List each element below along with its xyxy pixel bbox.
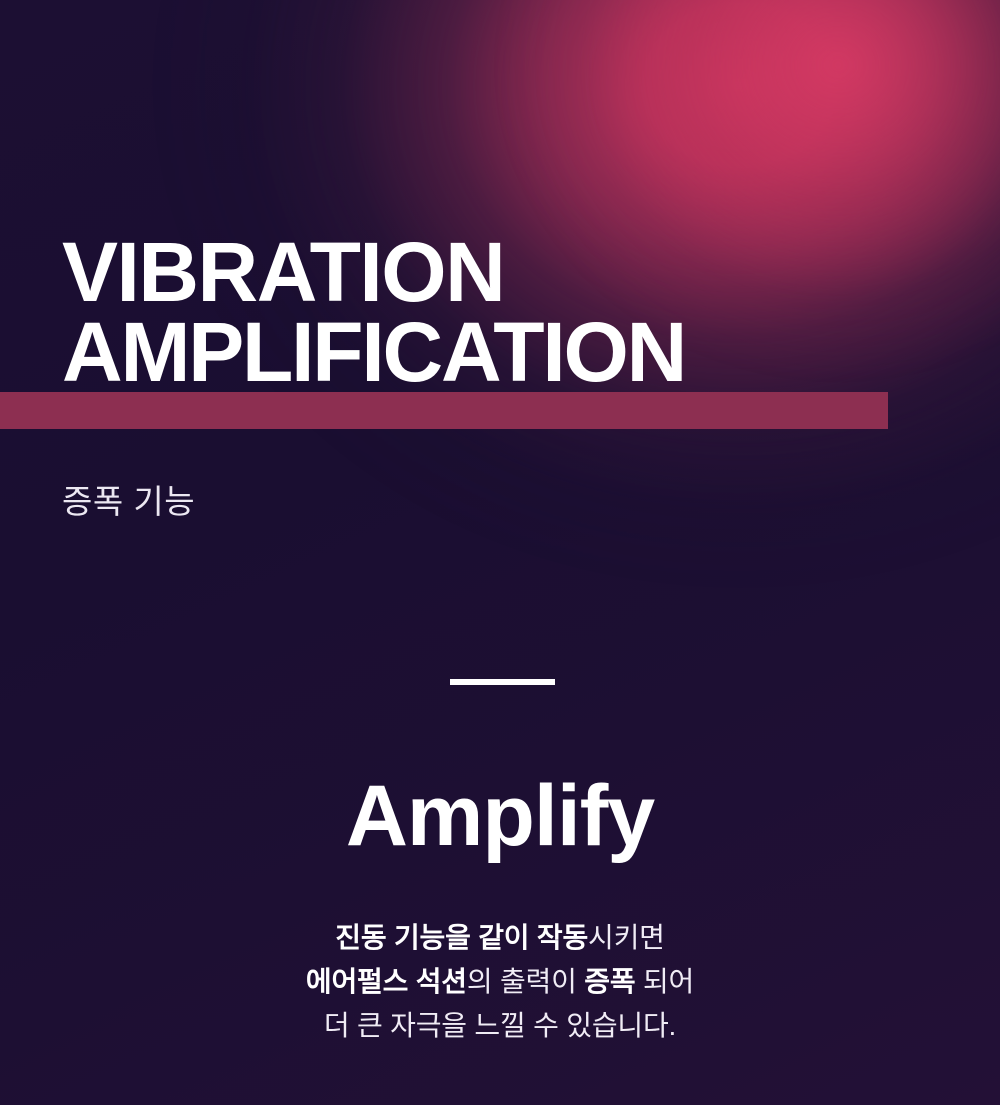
feature-description-line-3: 더 큰 자극을 느낄 수 있습니다. bbox=[0, 1004, 1000, 1048]
headline-subtitle: 증폭 기능 bbox=[62, 480, 195, 524]
banner-content: VIBRATION AMPLIFICATION 증폭 기능 Amplify 진동… bbox=[0, 0, 1000, 1105]
feature-title: Amplify bbox=[0, 766, 1000, 866]
feature-description-segment-2-1: 에어펄스 석션 bbox=[306, 966, 467, 997]
feature-description-segment-3-1: 더 큰 자극을 느낄 수 있습니다. bbox=[324, 1010, 676, 1041]
horizontal-rule-divider-icon bbox=[450, 679, 555, 685]
headline-line-1: VIBRATION bbox=[62, 232, 1000, 312]
feature-description-segment-1-1: 진동 기능을 같이 작동 bbox=[335, 922, 588, 953]
feature-description-line-1: 진동 기능을 같이 작동시키면 bbox=[0, 916, 1000, 960]
feature-description-line-2: 에어펄스 석션의 출력이 증폭 되어 bbox=[0, 960, 1000, 1004]
headline-block: VIBRATION AMPLIFICATION bbox=[0, 232, 1000, 392]
feature-description-segment-2-3: 증폭 bbox=[584, 966, 635, 997]
promo-banner: VIBRATION AMPLIFICATION 증폭 기능 Amplify 진동… bbox=[0, 0, 1000, 1105]
feature-description-segment-1-2: 시키면 bbox=[588, 922, 665, 953]
feature-description-segment-2-2: 의 출력이 bbox=[467, 966, 584, 997]
headline-line-2: AMPLIFICATION bbox=[62, 312, 1000, 392]
page-title: VIBRATION AMPLIFICATION bbox=[0, 232, 1000, 392]
feature-description-segment-2-4: 되어 bbox=[635, 966, 694, 997]
feature-description: 진동 기능을 같이 작동시키면에어펄스 석션의 출력이 증폭 되어더 큰 자극을… bbox=[0, 916, 1000, 1048]
